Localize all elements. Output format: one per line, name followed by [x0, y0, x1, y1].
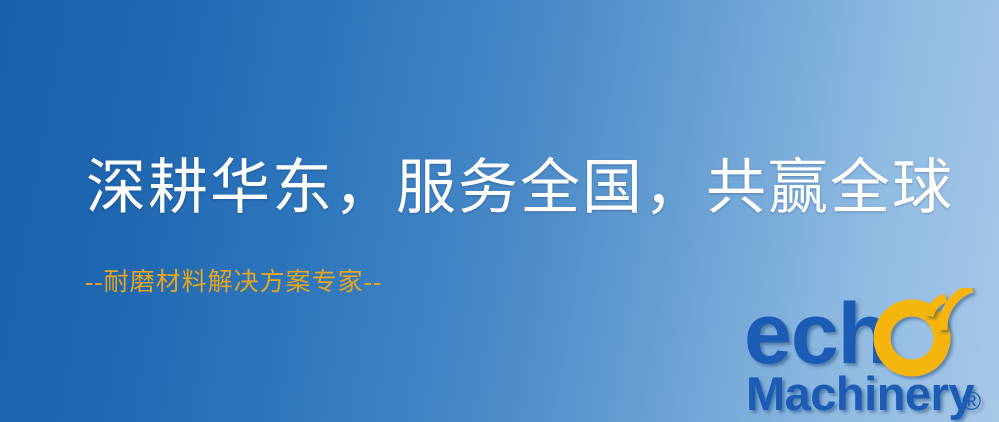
svg-text:Machinery: Machinery — [746, 367, 974, 420]
logo-tagline-machinery: Machinery ® — [746, 367, 981, 420]
headline-text: 深耕华东，服务全国，共赢全球 — [86, 152, 954, 224]
svg-text:®: ® — [962, 386, 981, 416]
logo-letter-o-icon — [882, 308, 942, 368]
echo-machinery-logo: ech Machinery ® — [744, 288, 999, 422]
subtitle-slogan: --耐磨材料解决方案专家-- — [85, 267, 382, 299]
promotional-banner: 深耕华东，服务全国，共赢全球 --耐磨材料解决方案专家-- ech — [0, 0, 999, 422]
